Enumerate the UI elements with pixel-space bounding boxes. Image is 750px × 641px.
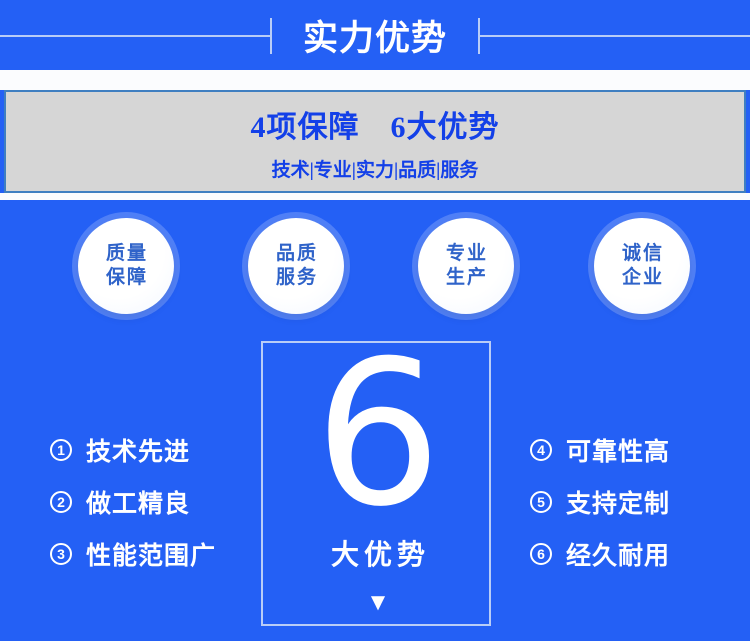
feature-label: 经久耐用: [566, 536, 670, 572]
sub-banner-headline: 4项保障 6大优势: [251, 102, 500, 146]
page-title: 实力优势: [0, 0, 750, 70]
badge-trustworthy-enterprise: 诚信 企业: [594, 218, 690, 314]
badge-professional-production: 专业 生产: [418, 218, 514, 314]
promo-page: 实力优势 4项保障 6大优势 技术|专业|实力|品质|服务 质量 保障 品质 服…: [0, 0, 750, 641]
advantage-count-caption: 大优势: [263, 533, 493, 573]
header-gap-divider: [0, 70, 750, 90]
feature-label: 可靠性高: [566, 432, 670, 468]
badge-quality-service: 品质 服务: [248, 218, 344, 314]
feature-list-left: 1 技术先进 2 做工精良 3 性能范围广: [50, 424, 280, 580]
badge-line-2: 服务: [274, 266, 318, 290]
list-item: 1 技术先进: [50, 424, 280, 476]
sub-banner: 4项保障 6大优势 技术|专业|实力|品质|服务: [4, 90, 746, 193]
sub-banner-bottom-divider: [0, 193, 750, 200]
feature-number-badge: 2: [50, 491, 72, 513]
feature-label: 支持定制: [566, 484, 670, 520]
list-item: 4 可靠性高: [530, 424, 750, 476]
feature-number-badge: 4: [530, 439, 552, 461]
feature-number-badge: 3: [50, 543, 72, 565]
badge-line-1: 诚信: [620, 242, 664, 266]
feature-list-right: 4 可靠性高 5 支持定制 6 经久耐用: [530, 424, 750, 580]
sub-banner-subline: 技术|专业|实力|品质|服务: [272, 155, 479, 182]
feature-label: 技术先进: [86, 432, 190, 468]
feature-number-badge: 6: [530, 543, 552, 565]
advantage-count-number: 6: [263, 335, 493, 535]
chevron-down-icon: ▼: [263, 591, 493, 615]
badge-line-1: 专业: [444, 242, 488, 266]
badge-quality-assurance: 质量 保障: [78, 218, 174, 314]
badge-line-1: 质量: [104, 242, 148, 266]
feature-number-badge: 5: [530, 491, 552, 513]
badge-line-1: 品质: [274, 242, 318, 266]
badge-row: 质量 保障 品质 服务 专业 生产 诚信 企业: [0, 218, 750, 328]
list-item: 6 经久耐用: [530, 528, 750, 580]
list-item: 2 做工精良: [50, 476, 280, 528]
feature-number-badge: 1: [50, 439, 72, 461]
badge-line-2: 保障: [104, 266, 148, 290]
list-item: 5 支持定制: [530, 476, 750, 528]
feature-label: 做工精良: [86, 484, 190, 520]
header-band: 实力优势: [0, 0, 750, 70]
feature-label: 性能范围广: [86, 536, 216, 572]
list-item: 3 性能范围广: [50, 528, 280, 580]
badge-line-2: 企业: [620, 266, 664, 290]
badge-line-2: 生产: [444, 266, 488, 290]
advantage-count-panel: 6 大优势 ▼: [261, 341, 491, 626]
